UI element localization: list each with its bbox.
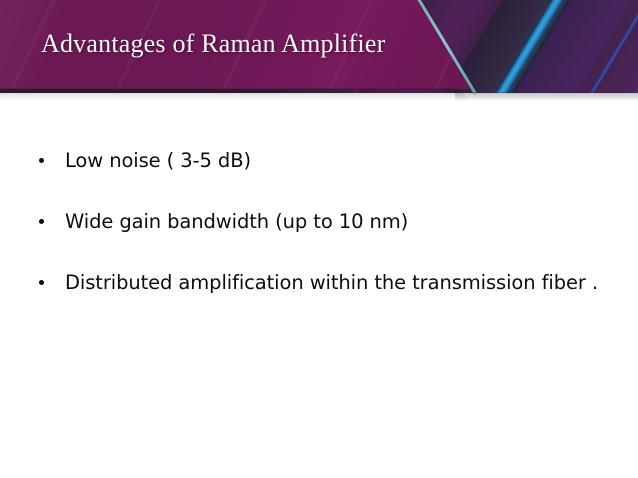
list-item: Distributed amplification within the tra… bbox=[31, 270, 613, 296]
list-item: Wide gain bandwidth (up to 10 nm) bbox=[31, 209, 613, 235]
list-item-text: Distributed amplification within the tra… bbox=[65, 271, 598, 294]
page-title: Advantages of Raman Amplifier bbox=[41, 30, 385, 59]
list-item: Low noise ( 3-5 dB) bbox=[31, 148, 613, 174]
slide-body: Low noise ( 3-5 dB) Wide gain bandwidth … bbox=[0, 100, 638, 296]
bullet-dot-icon bbox=[39, 158, 44, 163]
bullet-dot-icon bbox=[39, 219, 44, 224]
bullet-list: Low noise ( 3-5 dB) Wide gain bandwidth … bbox=[0, 148, 638, 296]
slide-header-banner: Advantages of Raman Amplifier bbox=[0, 0, 638, 100]
list-item-text: Wide gain bandwidth (up to 10 nm) bbox=[65, 210, 408, 233]
list-item-text: Low noise ( 3-5 dB) bbox=[65, 149, 251, 172]
slide: Advantages of Raman Amplifier Low noise … bbox=[0, 0, 638, 478]
bullet-dot-icon bbox=[39, 280, 44, 285]
